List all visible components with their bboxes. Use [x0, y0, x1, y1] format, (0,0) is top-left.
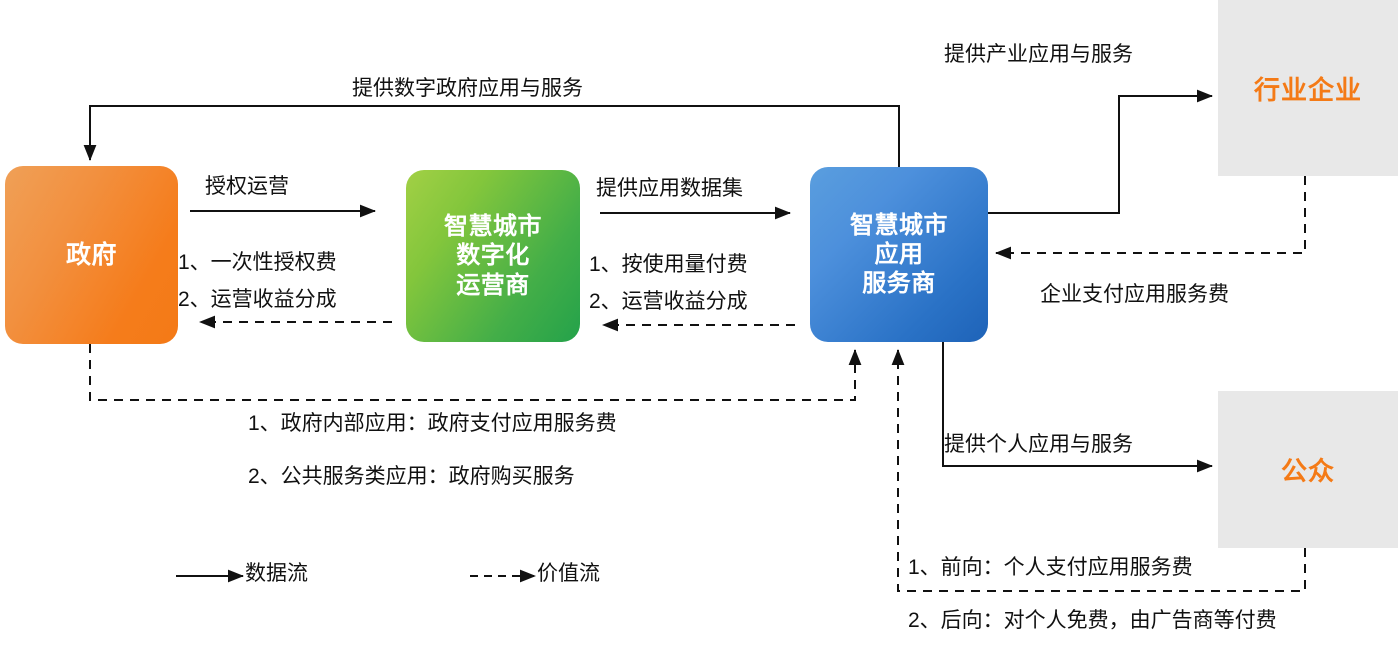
edge-gov-app-payment	[90, 344, 855, 400]
note-public-2: 2、后向：对个人免费，由广告商等付费	[908, 609, 1277, 632]
edge-label-op-pay-1: 1、按使用量付费	[589, 253, 748, 276]
node-operator[interactable]: 智慧城市 数字化 运营商	[406, 170, 580, 342]
node-operator-label-line1: 智慧城市	[444, 212, 542, 241]
edge-label-gov-pay-1: 1、一次性授权费	[178, 251, 337, 274]
connector-layer	[0, 0, 1398, 646]
node-service-provider-label-line3: 服务商	[850, 269, 948, 298]
note-gov-2: 2、公共服务类应用：政府购买服务	[248, 465, 575, 488]
edge-label-op-pay-2: 2、运营收益分成	[589, 290, 748, 313]
legend-label-data-flow: 数据流	[245, 562, 308, 585]
edge-enterprise-payment	[996, 176, 1305, 253]
edge-label-gov-pay-2: 2、运营收益分成	[178, 288, 337, 311]
legend-label-value-flow: 价值流	[537, 562, 600, 585]
node-service-provider-label: 智慧城市 应用 服务商	[850, 211, 948, 299]
node-service-provider-label-line1: 智慧城市	[850, 211, 948, 240]
edge-label-authorized-operation: 授权运营	[205, 175, 289, 198]
node-public[interactable]: 公众	[1218, 391, 1398, 548]
edge-label-digital-gov-services: 提供数字政府应用与服务	[352, 77, 583, 100]
edge-label-industry-services: 提供产业应用与服务	[944, 43, 1133, 66]
node-enterprise-label: 行业企业	[1254, 70, 1362, 107]
node-service-provider[interactable]: 智慧城市 应用 服务商	[810, 167, 988, 342]
node-operator-label: 智慧城市 数字化 运营商	[444, 212, 542, 300]
edge-industry-services	[988, 96, 1212, 213]
note-gov-1: 1、政府内部应用：政府支付应用服务费	[248, 412, 617, 435]
diagram-canvas: 政府 智慧城市 数字化 运营商 智慧城市 应用 服务商 行业企业 公众 提供数字…	[0, 0, 1398, 646]
node-service-provider-label-line2: 应用	[850, 240, 948, 269]
node-government-label: 政府	[66, 240, 117, 271]
note-public-1: 1、前向：个人支付应用服务费	[908, 556, 1193, 579]
node-enterprise[interactable]: 行业企业	[1218, 0, 1398, 176]
node-government[interactable]: 政府	[5, 166, 178, 344]
node-operator-label-line2: 数字化	[444, 241, 542, 270]
edge-label-personal-services: 提供个人应用与服务	[944, 433, 1133, 456]
edge-label-enterprise-payment: 企业支付应用服务费	[1040, 283, 1229, 306]
edge-digital-gov-services	[90, 106, 899, 167]
node-operator-label-line3: 运营商	[444, 271, 542, 300]
node-public-label: 公众	[1281, 451, 1335, 488]
edge-label-provide-app-dataset: 提供应用数据集	[596, 177, 743, 200]
